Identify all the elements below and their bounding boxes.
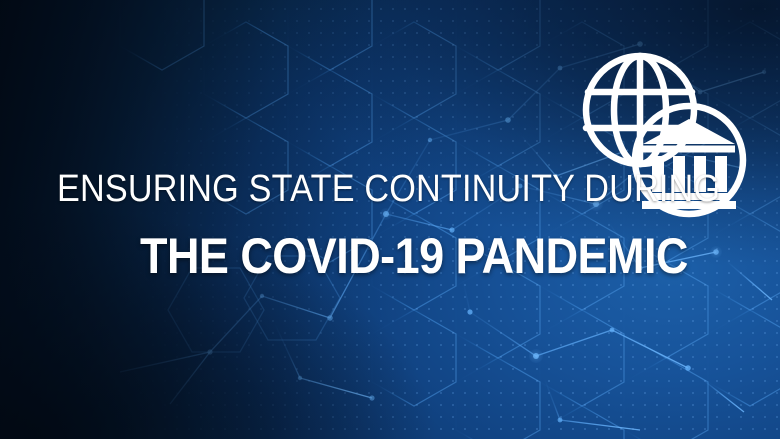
text-block: ENSURING STATE CONTINUITY DURING THE COV… [0,0,780,439]
covid-continuity-banner: ENSURING STATE CONTINUITY DURING THE COV… [0,0,780,439]
banner-headline: THE COVID-19 PANDEMIC [140,229,688,283]
banner-subtitle: ENSURING STATE CONTINUITY DURING [57,168,720,210]
